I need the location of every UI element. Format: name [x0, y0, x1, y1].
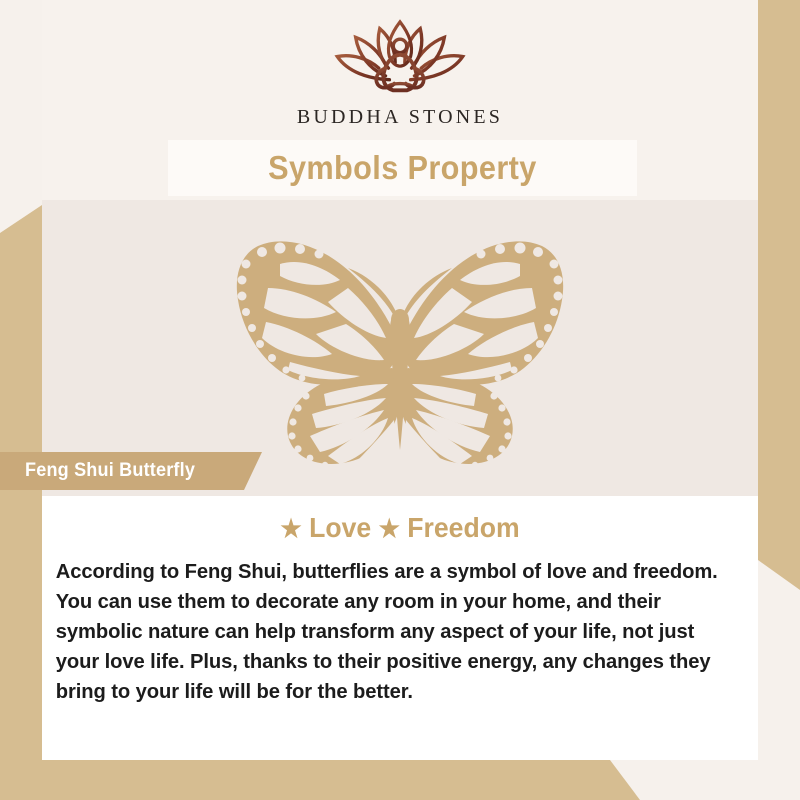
- ribbon-label: Feng Shui Butterfly: [25, 460, 195, 482]
- butterfly-icon: [220, 228, 580, 468]
- description-paragraph: According to Feng Shui, butterflies are …: [42, 557, 747, 707]
- tagline-word-freedom: Freedom: [407, 512, 519, 543]
- tagline-word-love: Love: [309, 512, 371, 543]
- tagline: ★ Love ★ Freedom: [60, 512, 740, 544]
- frame-bar-left: [0, 205, 42, 800]
- star-icon-left: ★: [280, 515, 301, 543]
- brand-name: BUDDHA STONES: [297, 106, 503, 129]
- frame-bar-bottom: [0, 760, 640, 800]
- illustration-panel: [42, 200, 758, 496]
- page-title: Symbols Property: [268, 149, 537, 187]
- content-card: ★ Love ★ Freedom According to Feng Shui,…: [42, 496, 758, 760]
- frame-bar-right: [758, 0, 800, 590]
- title-band: Symbols Property: [168, 140, 637, 196]
- section-ribbon: Feng Shui Butterfly: [0, 452, 262, 490]
- lotus-meditation-icon: [315, 18, 485, 100]
- brand-logo: BUDDHA STONES: [297, 18, 503, 129]
- star-icon-mid: ★: [379, 515, 400, 543]
